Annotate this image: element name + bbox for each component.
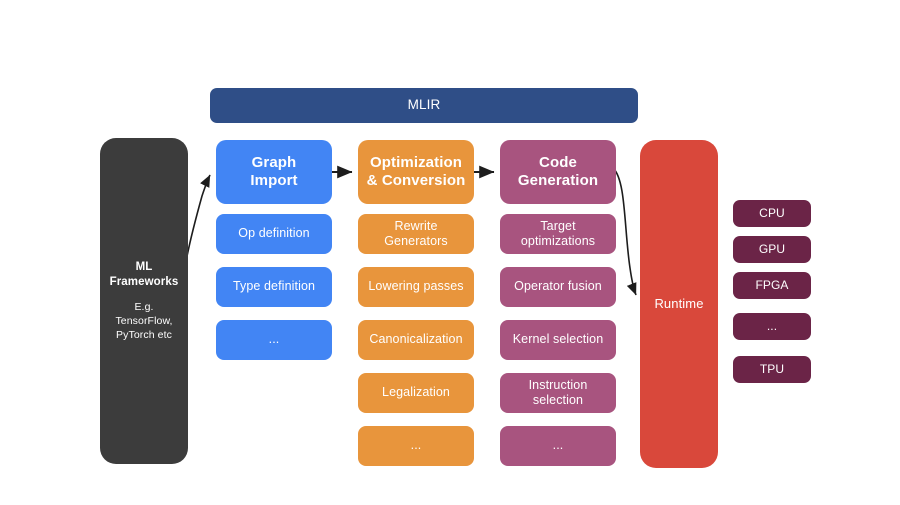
target-chip-fpga[interactable]: FPGA xyxy=(733,272,811,299)
optimization-item-rewrite-generators[interactable]: Rewrite Generators xyxy=(358,214,474,254)
ml-frameworks-pillar: ML Frameworks E.g. TensorFlow, PyTorch e… xyxy=(100,138,188,464)
optimization-item-lowering-passes[interactable]: Lowering passes xyxy=(358,267,474,307)
code-generation-header[interactable]: Code Generation xyxy=(500,140,616,204)
code-generation-item-target-optimizations[interactable]: Target optimizations xyxy=(500,214,616,254)
optimization-conversion-header[interactable]: Optimization & Conversion xyxy=(358,140,474,204)
runtime-pillar: Runtime xyxy=(640,140,718,468)
diagram-canvas: MLIR ML Frameworks E.g. TensorFlow, PyTo… xyxy=(0,0,900,505)
code-generation-item-more[interactable]: ... xyxy=(500,426,616,466)
ml-frameworks-title: ML Frameworks xyxy=(110,260,179,291)
code-generation-item-instruction-selection[interactable]: Instruction selection xyxy=(500,373,616,413)
ml-frameworks-subtitle: E.g. TensorFlow, PyTorch etc xyxy=(115,300,172,343)
graph-import-item-type-definition[interactable]: Type definition xyxy=(216,267,332,307)
target-chip-more[interactable]: ... xyxy=(733,313,811,340)
mlir-banner: MLIR xyxy=(210,88,638,123)
optimization-item-canonicalization[interactable]: Canonicalization xyxy=(358,320,474,360)
code-generation-item-operator-fusion[interactable]: Operator fusion xyxy=(500,267,616,307)
graph-import-header[interactable]: Graph Import xyxy=(216,140,332,204)
graph-import-item-op-definition[interactable]: Op definition xyxy=(216,214,332,254)
graph-import-item-more[interactable]: ... xyxy=(216,320,332,360)
target-chip-cpu[interactable]: CPU xyxy=(733,200,811,227)
arrow-code-generation-to-runtime xyxy=(613,168,636,295)
optimization-item-more[interactable]: ... xyxy=(358,426,474,466)
target-chip-gpu[interactable]: GPU xyxy=(733,236,811,263)
target-chip-tpu[interactable]: TPU xyxy=(733,356,811,383)
code-generation-item-kernel-selection[interactable]: Kernel selection xyxy=(500,320,616,360)
optimization-item-legalization[interactable]: Legalization xyxy=(358,373,474,413)
